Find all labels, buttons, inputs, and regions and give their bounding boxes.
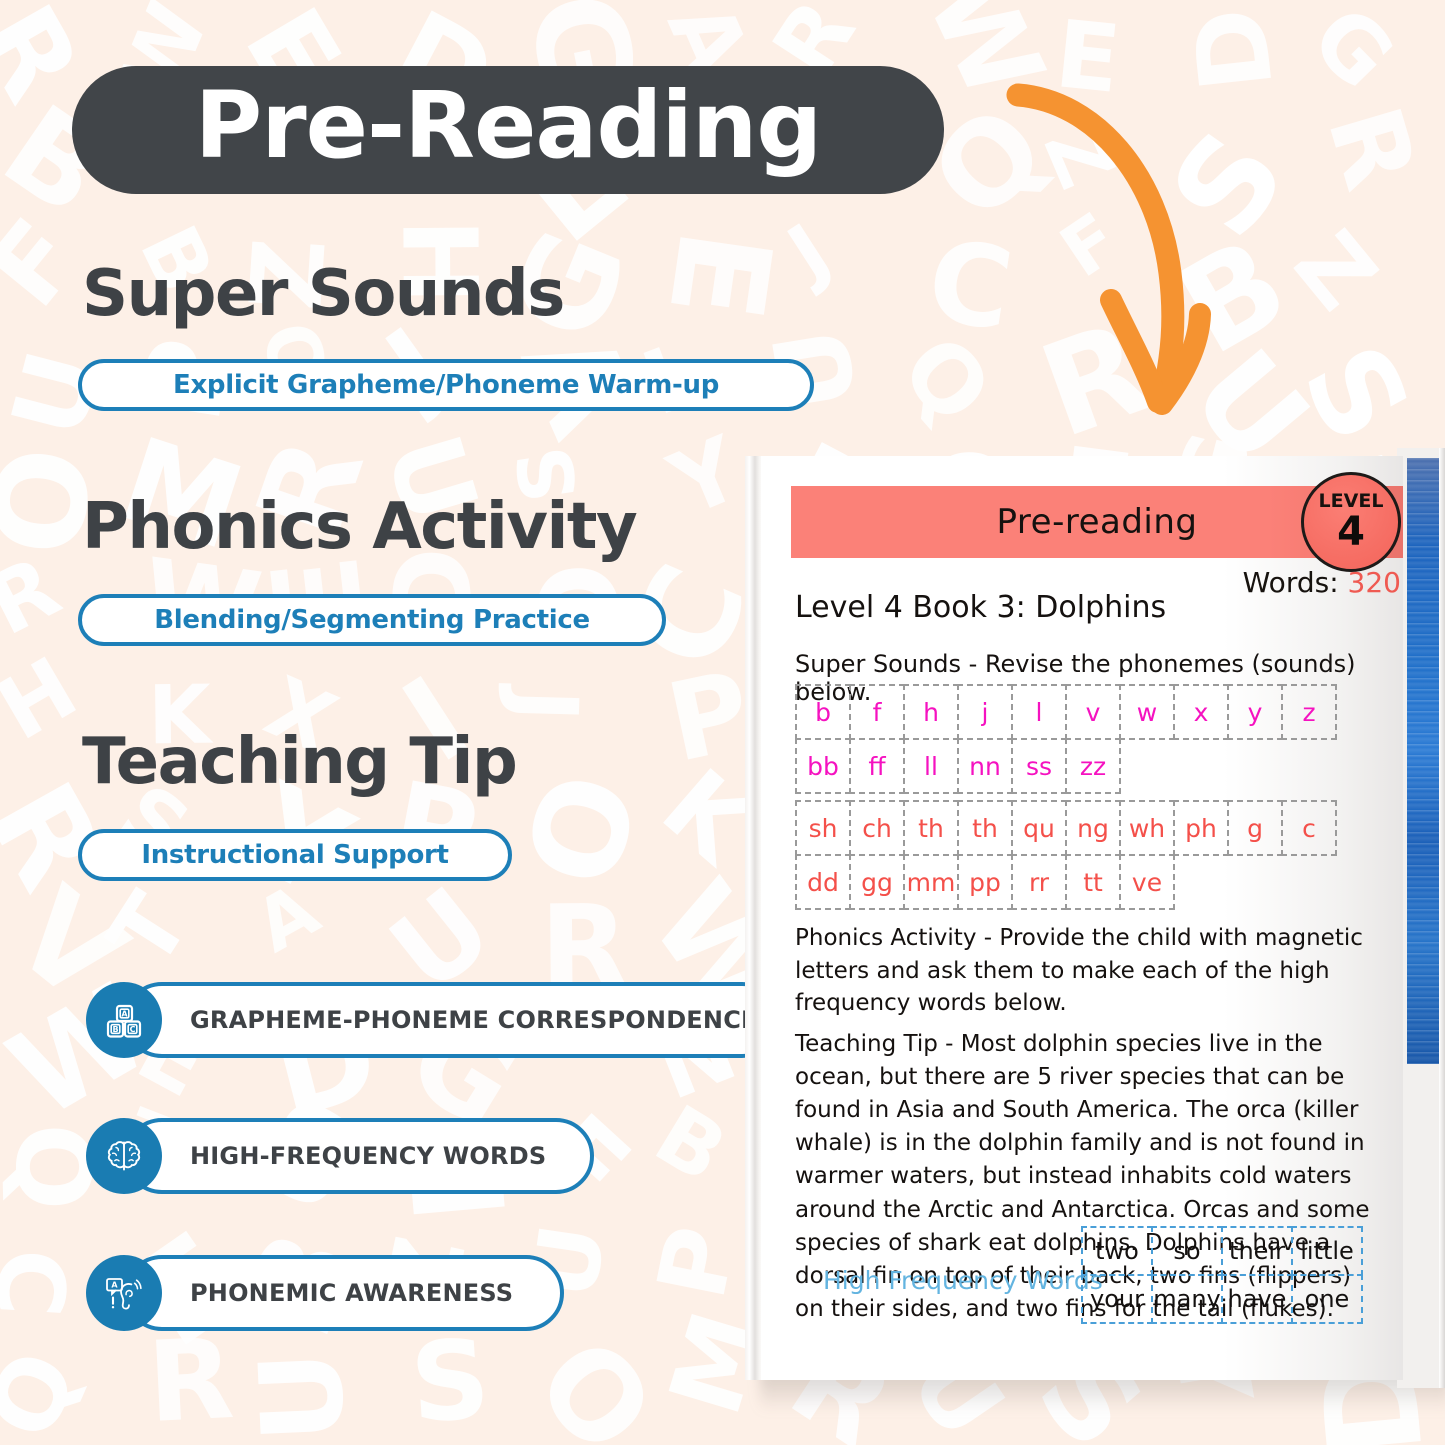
feature-badge-body: GRAPHEME-PHONEME CORRESPONDENCE xyxy=(124,982,780,1058)
section-pill-super-sounds: Explicit Grapheme/Phoneme Warm-up xyxy=(78,359,814,411)
phoneme-cell: sh xyxy=(795,800,851,856)
hfw-row: twosotheirlittle xyxy=(1081,1226,1361,1274)
worksheet-header-title: Pre-reading xyxy=(997,502,1198,542)
curved-down-arrow-icon xyxy=(1000,68,1300,428)
phoneme-cell: th xyxy=(903,800,959,856)
feature-badge-body: PHONEMIC AWARENESS xyxy=(124,1255,564,1331)
svg-text:C: C xyxy=(130,1025,136,1034)
high-frequency-words-label: High Frequency Words xyxy=(823,1266,1103,1295)
phoneme-cell: z xyxy=(1281,684,1337,740)
abc-blocks-icon: A B C xyxy=(86,982,162,1058)
phoneme-cell: ll xyxy=(903,738,959,794)
phoneme-row: bbffllnnsszz xyxy=(795,738,1335,792)
phoneme-cell: ng xyxy=(1065,800,1121,856)
phoneme-cell: ch xyxy=(849,800,905,856)
section-pill-label: Blending/Segmenting Practice xyxy=(154,605,590,635)
poster-canvas: RWEDGARWEDGBNYTLHMQZSRFBZHGEJCFBZUPOJAIU… xyxy=(0,0,1445,1445)
hfw-row: yourmanyhaveone xyxy=(1081,1274,1361,1322)
phoneme-grid-pink: bfhjlvwxyzbbffllnnsszz xyxy=(795,684,1335,792)
word-count-label: Words: xyxy=(1243,566,1339,599)
phoneme-cell: ph xyxy=(1173,800,1229,856)
phoneme-cell: tt xyxy=(1065,854,1121,910)
hfw-cell: so xyxy=(1151,1226,1223,1276)
phoneme-cell: nn xyxy=(957,738,1013,794)
word-count: Words: 320 xyxy=(1161,566,1401,599)
phoneme-cell: v xyxy=(1065,684,1121,740)
svg-text:A: A xyxy=(121,1009,128,1018)
section-pill-phonics-activity: Blending/Segmenting Practice xyxy=(78,594,666,646)
phoneme-cell: zz xyxy=(1065,738,1121,794)
brain-icon xyxy=(86,1118,162,1194)
phoneme-cell: l xyxy=(1011,684,1067,740)
phoneme-row: ddggmmpprrttve xyxy=(795,854,1335,908)
phoneme-cell: b xyxy=(795,684,851,740)
phoneme-cell: dd xyxy=(795,854,851,910)
phoneme-cell: y xyxy=(1227,684,1283,740)
phoneme-cell: qu xyxy=(1011,800,1067,856)
phoneme-cell: mm xyxy=(903,854,959,910)
phoneme-cell: ve xyxy=(1119,854,1175,910)
phoneme-cell: h xyxy=(903,684,959,740)
section-pill-label: Explicit Grapheme/Phoneme Warm-up xyxy=(173,370,719,400)
feature-badge-label: HIGH-FREQUENCY WORDS xyxy=(190,1142,546,1170)
hfw-cell: have xyxy=(1221,1274,1293,1324)
hfw-cell: their xyxy=(1221,1226,1293,1276)
level-badge-label: LEVEL xyxy=(1319,492,1384,511)
worksheet-book-title: Level 4 Book 3: Dolphins xyxy=(795,590,1166,625)
phoneme-cell: x xyxy=(1173,684,1229,740)
phoneme-cell: w xyxy=(1119,684,1175,740)
hfw-cell: little xyxy=(1291,1226,1363,1276)
hfw-cell: many xyxy=(1151,1274,1223,1324)
level-badge: LEVEL 4 xyxy=(1301,472,1401,572)
phoneme-cell: ss xyxy=(1011,738,1067,794)
phoneme-cell: bb xyxy=(795,738,851,794)
phoneme-cell: g xyxy=(1227,800,1283,856)
svg-text:A: A xyxy=(111,1281,118,1290)
phoneme-cell: gg xyxy=(849,854,905,910)
phoneme-cell: ff xyxy=(849,738,905,794)
section-pill-teaching-tip: Instructional Support xyxy=(78,829,512,881)
phoneme-cell: c xyxy=(1281,800,1337,856)
phoneme-row: bfhjlvwxyz xyxy=(795,684,1335,738)
section-heading-phonics-activity: Phonics Activity xyxy=(82,495,636,559)
section-heading-super-sounds: Super Sounds xyxy=(82,262,564,326)
feature-badge-body: HIGH-FREQUENCY WORDS xyxy=(124,1118,594,1194)
phoneme-grid-red: shchththqungwhphgcddggmmpprrttve xyxy=(795,800,1335,908)
hfw-cell: your xyxy=(1081,1274,1153,1324)
phoneme-cell: pp xyxy=(957,854,1013,910)
phoneme-row: shchththqungwhphgc xyxy=(795,800,1335,854)
high-frequency-words-grid: twosotheirlittleyourmanyhaveone xyxy=(1081,1226,1361,1322)
phoneme-cell: j xyxy=(957,684,1013,740)
worksheet-book: Pre-reading LEVEL 4 Words: 320 Level 4 B… xyxy=(745,448,1445,1388)
book-page-edge xyxy=(1439,448,1445,1388)
phoneme-cell: f xyxy=(849,684,905,740)
level-badge-number: 4 xyxy=(1337,511,1365,553)
section-pill-label: Instructional Support xyxy=(141,840,448,870)
page-title-pill: Pre-Reading xyxy=(72,66,944,194)
feature-badge-label: PHONEMIC AWARENESS xyxy=(190,1279,513,1307)
section-heading-teaching-tip: Teaching Tip xyxy=(82,730,516,794)
page-title: Pre-Reading xyxy=(195,80,821,180)
svg-text:B: B xyxy=(112,1025,118,1034)
ear-speech-icon: A xyxy=(86,1255,162,1331)
phoneme-cell: wh xyxy=(1119,800,1175,856)
hfw-cell: one xyxy=(1291,1274,1363,1324)
worksheet-phonics-activity: Phonics Activity - Provide the child wit… xyxy=(795,922,1383,1020)
hfw-cell: two xyxy=(1081,1226,1153,1276)
feature-badge-label: GRAPHEME-PHONEME CORRESPONDENCE xyxy=(190,1006,758,1034)
phoneme-cell: rr xyxy=(1011,854,1067,910)
phoneme-cell: th xyxy=(957,800,1013,856)
worksheet-page: Pre-reading LEVEL 4 Words: 320 Level 4 B… xyxy=(761,456,1403,1380)
